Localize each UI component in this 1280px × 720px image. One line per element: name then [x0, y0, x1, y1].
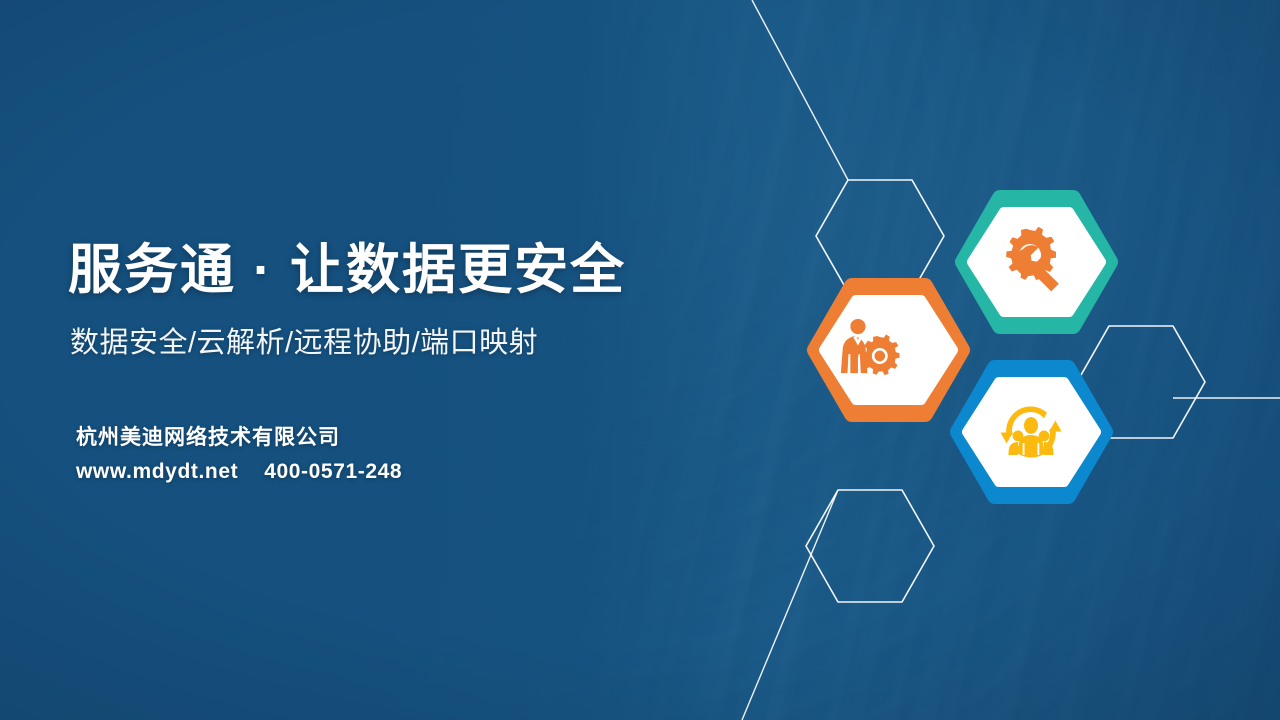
company-website: www.mdydt.net: [76, 460, 238, 483]
company-name: 杭州美迪网络技术有限公司: [76, 421, 340, 451]
company-phone: 400-0571-248: [264, 460, 402, 483]
slide-subtitle: 数据安全/云解析/远程协助/端口映射: [70, 325, 538, 363]
slide-text-content: 服务通 · 让数据更安全 数据安全/云解析/远程协助/端口映射 杭州美迪网络技术…: [68, 0, 768, 720]
contact-line: www.mdydt.net400-0571-248: [76, 460, 402, 484]
presentation-slide: 服务通 · 让数据更安全 数据安全/云解析/远程协助/端口映射 杭州美迪网络技术…: [0, 0, 1280, 720]
page-title: 服务通 · 让数据更安全: [68, 240, 626, 300]
